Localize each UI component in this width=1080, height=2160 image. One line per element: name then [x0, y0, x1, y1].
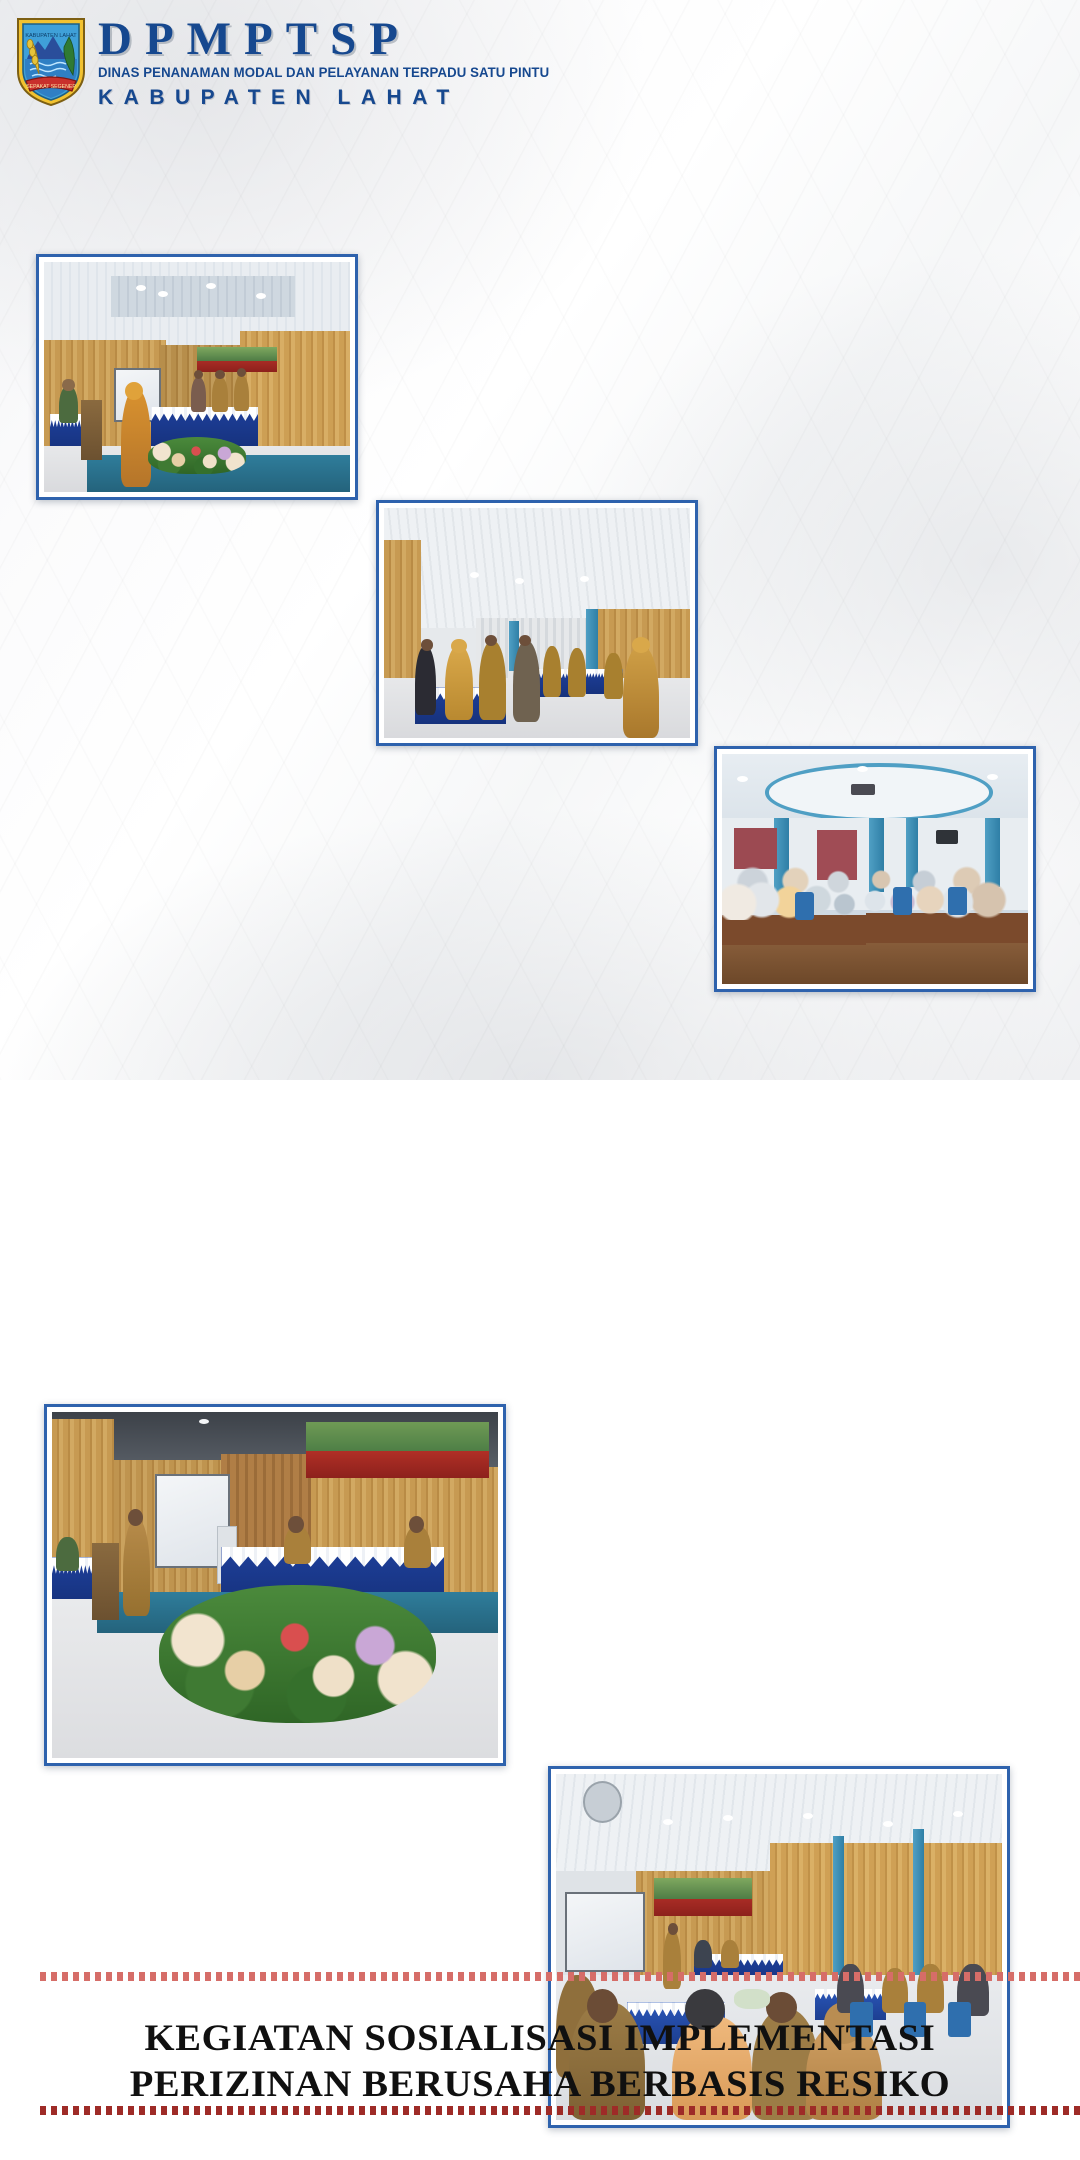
brand-region: KABUPATEN LAHAT — [98, 87, 583, 108]
gallery-photo-2 — [376, 500, 698, 746]
poster-canvas: KABUPATEN LAHAT SEPAKAT SEGENEP DPMPTSP … — [0, 0, 1080, 1080]
page-title: KEGIATAN SOSIALISASI IMPLEMENTASI PERIZI… — [0, 2016, 1080, 2108]
svg-text:KABUPATEN LAHAT: KABUPATEN LAHAT — [25, 33, 77, 39]
page-title-line-1: KEGIATAN SOSIALISASI IMPLEMENTASI — [0, 2016, 1080, 2062]
brand-full-name: DINAS PENANAMAN MODAL DAN PELAYANAN TERP… — [98, 66, 549, 80]
brand-acronym: DPMPTSP — [98, 16, 583, 63]
gallery-photo-1 — [36, 254, 358, 500]
header: KABUPATEN LAHAT SEPAKAT SEGENEP DPMPTSP … — [0, 0, 1080, 108]
gallery-photo-4 — [44, 1404, 506, 1766]
lahat-regency-crest-icon: KABUPATEN LAHAT SEPAKAT SEGENEP — [14, 15, 88, 107]
page-title-line-2: PERIZINAN BERUSAHA BERBASIS RESIKO — [0, 2062, 1080, 2108]
gallery-photo-3 — [714, 746, 1036, 992]
divider-top — [40, 1972, 1080, 1981]
svg-text:SEPAKAT SEGENEP: SEPAKAT SEGENEP — [26, 84, 76, 90]
